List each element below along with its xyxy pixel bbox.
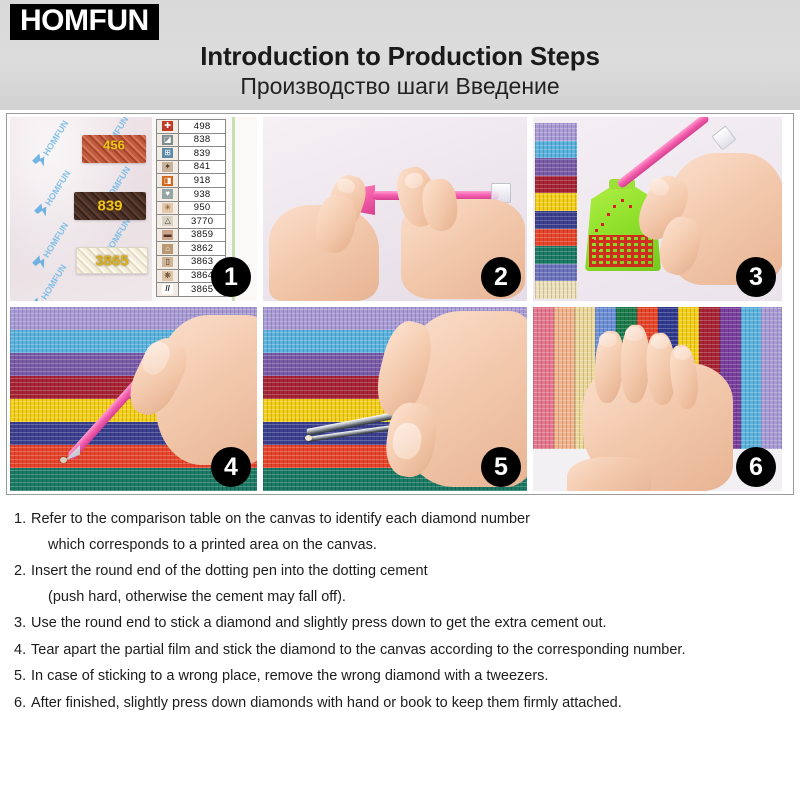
step-badge-2: 2: [481, 257, 521, 297]
legend-symbol-cell: △: [157, 215, 179, 229]
panel-insert-pen-into-cement: 2: [263, 117, 527, 301]
page-title-english: Introduction to Production Steps: [0, 42, 800, 72]
homfun-logo: HOMFUN: [10, 4, 159, 40]
stripe: [533, 307, 554, 449]
stripe: [535, 246, 577, 264]
instruction-step: 4. Tear apart the partial film and stick…: [14, 640, 786, 661]
step-badge-6: 6: [736, 447, 776, 487]
instruction-step: 3. Use the round end to stick a diamond …: [14, 613, 786, 634]
fingernail: [599, 333, 617, 347]
step-text: After finished, slightly press down diam…: [31, 693, 786, 714]
legend-symbol-cell: ♥: [157, 187, 179, 201]
step-text: In case of sticking to a wrong place, re…: [31, 666, 786, 687]
diamond-bag-label: 3865: [95, 252, 128, 269]
legend-row: ▬ 3859: [157, 228, 226, 242]
stripe: [741, 307, 762, 449]
legend-symbol-cell: ▯: [157, 255, 179, 269]
legend-row: ◪ 838: [157, 133, 226, 147]
step-number: 6.: [14, 693, 31, 714]
legend-symbol-icon: ▬: [162, 230, 173, 240]
step-number: 1.: [14, 509, 31, 555]
legend-code-cell: 3770: [179, 215, 226, 229]
legend-code-cell: 498: [179, 120, 226, 134]
step-number: 2.: [14, 561, 31, 607]
title-block: Introduction to Production Steps Произво…: [0, 42, 800, 100]
film-watermark: HOMFUN: [39, 263, 68, 301]
pen-cap: [711, 125, 736, 150]
film-watermark: HOMFUN: [41, 119, 70, 158]
legend-symbol-cell: ✚: [157, 120, 179, 134]
removed-diamond: [305, 435, 312, 441]
diamond-bag-label: 456: [103, 137, 125, 152]
instruction-list: 1. Refer to the comparison table on the …: [0, 495, 800, 714]
legend-row: ✳ 950: [157, 201, 226, 215]
stripe: [535, 193, 577, 211]
stripe: [554, 307, 575, 449]
legend-symbol-cell: ✦: [157, 160, 179, 174]
fingernail: [625, 327, 643, 341]
legend-symbol-icon: ❋: [162, 271, 173, 281]
legend-symbol-icon: //: [162, 284, 173, 294]
panel-place-diamond-on-canvas: 4: [10, 307, 257, 491]
film-watermark: HOMFUN: [43, 169, 72, 208]
step-badge-3: 3: [736, 257, 776, 297]
legend-symbol-icon: ✳: [162, 203, 173, 213]
legend-row: ♥ 938: [157, 187, 226, 201]
panel-remove-with-tweezers: 5: [263, 307, 527, 491]
legend-code-cell: 950: [179, 201, 226, 215]
legend-row: ⊞ 839: [157, 147, 226, 161]
fingernail: [674, 347, 691, 360]
legend-symbol-cell: ▬: [157, 228, 179, 242]
stripe: [535, 229, 577, 247]
step-badge-5: 5: [481, 447, 521, 487]
step-line-1: Refer to the comparison table on the can…: [31, 511, 530, 527]
legend-symbol-cell: ✳: [157, 201, 179, 215]
red-diamond: [613, 205, 616, 208]
legend-code-cell: 938: [179, 187, 226, 201]
step-text: Refer to the comparison table on the can…: [31, 509, 786, 555]
stripe: [535, 211, 577, 229]
diamond-bag: 839: [74, 192, 146, 220]
page-title-russian: Производство шаги Введение: [0, 73, 800, 101]
diamond-bag-label: 839: [97, 198, 122, 215]
legend-code-cell: 918: [179, 174, 226, 188]
legend-code-cell: 3862: [179, 242, 226, 256]
red-diamond: [607, 213, 610, 216]
instruction-step: 6. After finished, slightly press down d…: [14, 693, 786, 714]
legend-symbol-cell: ◨: [157, 174, 179, 188]
stripe: [535, 158, 577, 176]
step-line-2: which corresponds to a printed area on t…: [31, 535, 786, 556]
step-badge-4: 4: [211, 447, 251, 487]
canvas-strip: [535, 123, 577, 299]
legend-code-cell: 3859: [179, 228, 226, 242]
legend-symbol-cell: ⊞: [157, 147, 179, 161]
legend-symbol-icon: ⌂: [162, 244, 173, 254]
diamond-on-tip: [60, 457, 67, 463]
legend-symbol-icon: ✦: [162, 162, 173, 172]
step-line-1: Insert the round end of the dotting pen …: [31, 563, 428, 579]
legend-symbol-icon: ✚: [162, 121, 173, 131]
legend-symbol-cell: ⌂: [157, 242, 179, 256]
step-text: Insert the round end of the dotting pen …: [31, 561, 786, 607]
steps-grid: HOMFUN HOMFUN HOMFUN HOMFUN HOMFUN HOMFU…: [10, 117, 790, 491]
legend-symbol-icon: ◨: [162, 176, 173, 186]
fingernail: [651, 335, 669, 349]
legend-symbol-cell: ❋: [157, 269, 179, 283]
stripe: [535, 141, 577, 159]
legend-row: ◨ 918: [157, 174, 226, 188]
legend-symbol-icon: ⊞: [162, 148, 173, 158]
step-number: 4.: [14, 640, 31, 661]
red-diamond-cluster: [589, 235, 653, 267]
instruction-step: 1. Refer to the comparison table on the …: [14, 509, 786, 555]
step-line-2: (push hard, otherwise the cement may fal…: [31, 587, 786, 608]
red-diamond: [595, 229, 598, 232]
legend-symbol-icon: ♥: [162, 189, 173, 199]
legend-code-cell: 841: [179, 160, 226, 174]
diamond-bag: 3865: [76, 247, 148, 274]
film-watermark: HOMFUN: [41, 221, 70, 260]
panel-pick-diamond-from-tray: 3: [533, 117, 782, 301]
legend-row: △ 3770: [157, 215, 226, 229]
instruction-step: 2. Insert the round end of the dotting p…: [14, 561, 786, 607]
legend-symbol-cell: ◪: [157, 133, 179, 147]
step-number: 3.: [14, 613, 31, 634]
step-number: 5.: [14, 666, 31, 687]
step-text: Tear apart the partial film and stick th…: [31, 640, 786, 661]
legend-row: ⌂ 3862: [157, 242, 226, 256]
panel-legend-table: HOMFUN HOMFUN HOMFUN HOMFUN HOMFUN HOMFU…: [10, 117, 257, 301]
red-diamond: [629, 205, 632, 208]
legend-code-cell: 839: [179, 147, 226, 161]
stripe: [535, 176, 577, 194]
stripe: [761, 307, 782, 449]
legend-code-cell: 838: [179, 133, 226, 147]
legend-symbol-icon: ▯: [162, 257, 173, 267]
panel-press-down-with-hand: 6: [533, 307, 782, 491]
wrist: [567, 457, 651, 491]
instruction-step: 5. In case of sticking to a wrong place,…: [14, 666, 786, 687]
step-badge-1: 1: [211, 257, 251, 297]
legend-row: ✦ 841: [157, 160, 226, 174]
legend-symbol-icon: △: [162, 216, 173, 226]
stripe: [535, 123, 577, 141]
red-diamond: [621, 199, 624, 202]
legend-symbol-cell: //: [157, 283, 179, 297]
steps-grid-frame: HOMFUN HOMFUN HOMFUN HOMFUN HOMFUN HOMFU…: [6, 113, 794, 495]
logo-text: HOMFUN: [20, 4, 149, 37]
diamond-bag: 456: [82, 135, 146, 163]
stripe: [535, 264, 577, 282]
stripe: [535, 281, 577, 299]
legend-row: ✚ 498: [157, 120, 226, 134]
red-diamond: [601, 223, 604, 226]
page-header: HOMFUN Introduction to Production Steps …: [0, 0, 800, 110]
step-text: Use the round end to stick a diamond and…: [31, 613, 786, 634]
canvas-stripes: [535, 123, 577, 299]
legend-symbol-icon: ◪: [162, 135, 173, 145]
